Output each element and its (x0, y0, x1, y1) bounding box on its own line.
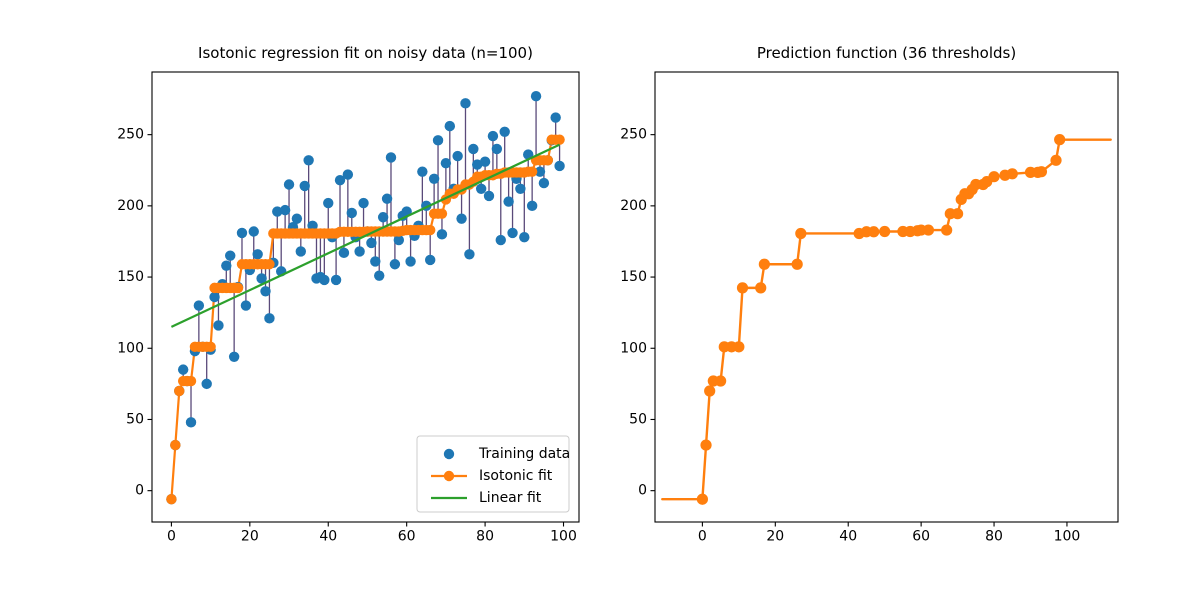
axes-title: Prediction function (36 thresholds) (757, 44, 1016, 62)
isotonic-fit-marker (543, 155, 553, 165)
prediction-function-marker (759, 259, 770, 270)
prediction-function-marker (755, 282, 766, 293)
figure-canvas: Isotonic regression fit on noisy data (n… (0, 0, 1200, 600)
y-tick-label: 200 (117, 198, 144, 214)
legend-label: Linear fit (479, 490, 542, 506)
training-data-point (441, 158, 451, 168)
training-data-point (527, 201, 537, 211)
y-tick-label: 0 (135, 483, 144, 499)
training-data-point (249, 226, 259, 236)
training-data-point (437, 229, 447, 239)
training-data-point (209, 292, 219, 302)
training-data-point (429, 174, 439, 184)
training-data-point (492, 144, 502, 154)
training-data-point (405, 256, 415, 266)
isotonic-fit-marker (170, 440, 180, 450)
y-tick-label: 150 (117, 269, 144, 285)
plot-area (662, 134, 1110, 505)
training-data-point (554, 161, 564, 171)
training-data-point (260, 286, 270, 296)
prediction-function-marker (879, 226, 890, 237)
axes-left-panel: Isotonic regression fit on noisy data (n… (117, 44, 579, 545)
training-data-point (343, 169, 353, 179)
isotonic-fit-marker (174, 386, 184, 396)
training-data-point (456, 213, 466, 223)
isotonic-fit-marker (437, 208, 447, 218)
legend-label: Isotonic fit (479, 468, 553, 484)
training-data-point (445, 121, 455, 131)
x-tick-label: 80 (476, 529, 494, 545)
prediction-function-line (662, 140, 1110, 500)
prediction-function-marker (1036, 166, 1047, 177)
training-data-point (213, 320, 223, 330)
prediction-function-marker (792, 259, 803, 270)
prediction-function-marker (941, 224, 952, 235)
prediction-function-marker (1054, 134, 1065, 145)
training-data-point (194, 300, 204, 310)
y-tick-label: 150 (620, 269, 647, 285)
legend-marker-swatch (444, 449, 454, 459)
training-data-point (515, 184, 525, 194)
training-data-point (225, 251, 235, 261)
legend: Training dataIsotonic fitLinear fit (417, 436, 570, 512)
axes-frame (655, 72, 1118, 522)
training-data-point (358, 198, 368, 208)
training-data-point (303, 155, 313, 165)
isotonic-fit-marker (264, 259, 274, 269)
training-data-point (464, 249, 474, 259)
training-data-point (229, 352, 239, 362)
x-tick-label: 20 (241, 529, 259, 545)
training-data-point (476, 184, 486, 194)
x-tick-label: 40 (319, 529, 337, 545)
y-tick-label: 50 (629, 411, 647, 427)
x-tick-label: 0 (698, 529, 707, 545)
isotonic-fit-marker (425, 225, 435, 235)
matplotlib-figure: Isotonic regression fit on noisy data (n… (0, 0, 1200, 600)
training-data-point (378, 212, 388, 222)
training-data-point (452, 151, 462, 161)
training-data-point (507, 228, 517, 238)
training-data-point (264, 313, 274, 323)
y-tick-label: 250 (620, 127, 647, 143)
x-tick-label: 60 (398, 529, 416, 545)
training-data-point (241, 300, 251, 310)
isotonic-fit-marker (166, 494, 176, 504)
legend-marker-swatch (444, 471, 454, 481)
training-data-point (382, 194, 392, 204)
training-data-point (323, 198, 333, 208)
training-data-point (237, 228, 247, 238)
x-tick-label: 100 (550, 529, 577, 545)
prediction-function-marker (923, 224, 934, 235)
prediction-function-marker (733, 341, 744, 352)
prediction-function-marker (700, 440, 711, 451)
training-data-point (460, 98, 470, 108)
isotonic-fit-marker (205, 342, 215, 352)
training-data-point (480, 157, 490, 167)
training-data-point (386, 152, 396, 162)
training-data-point (390, 259, 400, 269)
training-data-point (417, 166, 427, 176)
y-tick-label: 250 (117, 127, 144, 143)
prediction-function-marker (704, 385, 715, 396)
x-tick-label: 100 (1054, 529, 1081, 545)
training-data-point (433, 135, 443, 145)
training-data-point (296, 246, 306, 256)
training-data-point (499, 127, 509, 137)
prediction-function-marker (1050, 155, 1061, 166)
isotonic-fit-marker (186, 376, 196, 386)
isotonic-fit-marker (527, 166, 537, 176)
x-tick-label: 80 (985, 529, 1003, 545)
training-data-point (425, 255, 435, 265)
training-data-point (366, 238, 376, 248)
prediction-function-marker (1007, 168, 1018, 179)
y-tick-label: 100 (620, 340, 647, 356)
training-data-point (539, 178, 549, 188)
training-data-point (488, 131, 498, 141)
training-data-point (484, 191, 494, 201)
x-tick-label: 40 (839, 529, 857, 545)
prediction-function-marker (737, 282, 748, 293)
training-data-point (496, 235, 506, 245)
training-data-point (221, 260, 231, 270)
prediction-function-marker (697, 494, 708, 505)
prediction-function-markers (697, 134, 1065, 505)
training-data-point (280, 205, 290, 215)
training-data-point (292, 213, 302, 223)
training-data-point (178, 364, 188, 374)
axes-right-panel: Prediction function (36 thresholds)02040… (620, 44, 1118, 545)
y-tick-label: 100 (117, 340, 144, 356)
x-tick-label: 0 (167, 529, 176, 545)
training-data-point (319, 275, 329, 285)
training-data-point (331, 275, 341, 285)
training-data-point (347, 208, 357, 218)
prediction-function-marker (715, 375, 726, 386)
training-data-point (370, 256, 380, 266)
prediction-function-marker (795, 228, 806, 239)
prediction-function-marker (952, 208, 963, 219)
training-data-point (519, 232, 529, 242)
prediction-function-marker (988, 171, 999, 182)
training-data-point (300, 181, 310, 191)
training-data-point (531, 91, 541, 101)
training-data-point (339, 248, 349, 258)
prediction-function-marker (868, 226, 879, 237)
y-tick-label: 50 (126, 411, 144, 427)
y-tick-label: 0 (638, 483, 647, 499)
training-data-point (284, 179, 294, 189)
isotonic-fit-marker (233, 283, 243, 293)
x-tick-label: 60 (912, 529, 930, 545)
y-tick-label: 200 (620, 198, 647, 214)
isotonic-fit-marker (554, 134, 564, 144)
legend-label: Training data (478, 446, 570, 462)
training-data-point (374, 270, 384, 280)
training-data-point (550, 112, 560, 122)
training-data-point (354, 246, 364, 256)
training-data-point (201, 379, 211, 389)
training-data-point (468, 144, 478, 154)
training-data-point (252, 249, 262, 259)
axes-title: Isotonic regression fit on noisy data (n… (198, 44, 533, 62)
training-data-point (186, 417, 196, 427)
x-tick-label: 20 (766, 529, 784, 545)
training-data-point (503, 196, 513, 206)
